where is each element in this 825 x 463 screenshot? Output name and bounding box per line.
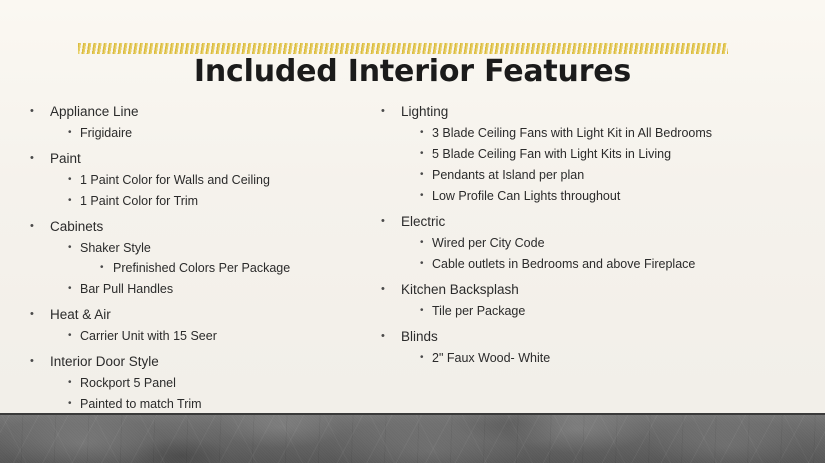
- bullet-marker-icon: •: [30, 354, 34, 369]
- slide-title: Included Interior Features: [0, 54, 825, 89]
- bullet-item-label: Prefinished Colors Per Package: [113, 261, 290, 275]
- bullet-item-label: Interior Door Style: [50, 354, 159, 369]
- bullet-item-level1: •Electric: [381, 214, 781, 229]
- bullet-marker-icon: •: [420, 304, 424, 318]
- bullet-marker-icon: •: [68, 241, 72, 255]
- bullet-list-level2: •Frigidaire: [30, 126, 382, 140]
- bullet-item-level3: •Prefinished Colors Per Package: [30, 261, 382, 275]
- bullet-item-level1: •Appliance Line: [30, 104, 382, 119]
- bullet-item-label: Tile per Package: [432, 304, 525, 318]
- bullet-list-level1: •Appliance Line•Frigidaire•Paint•1 Paint…: [30, 104, 382, 411]
- bullet-item-level2: •Bar Pull Handles: [30, 282, 382, 296]
- bullet-item-label: Frigidaire: [80, 126, 132, 140]
- bullet-item-label: 2" Faux Wood- White: [432, 351, 550, 365]
- bullet-item-label: 5 Blade Ceiling Fan with Light Kits in L…: [432, 147, 671, 161]
- bullet-list-level1: •Lighting•3 Blade Ceiling Fans with Ligh…: [381, 104, 781, 365]
- bullet-list-level2: •3 Blade Ceiling Fans with Light Kit in …: [381, 126, 781, 203]
- bullet-marker-icon: •: [68, 329, 72, 343]
- bullet-marker-icon: •: [30, 307, 34, 322]
- bullet-marker-icon: •: [68, 194, 72, 208]
- bullet-marker-icon: •: [30, 104, 34, 119]
- bullet-item-label: Cabinets: [50, 219, 103, 234]
- bullet-list-level2: •1 Paint Color for Walls and Ceiling•1 P…: [30, 173, 382, 208]
- bullet-marker-icon: •: [420, 257, 424, 271]
- slide-body: •Appliance Line•Frigidaire•Paint•1 Paint…: [0, 104, 825, 404]
- bullet-list-level2: •Carrier Unit with 15 Seer: [30, 329, 382, 343]
- bullet-column-left: •Appliance Line•Frigidaire•Paint•1 Paint…: [30, 104, 382, 411]
- bullet-item-label: Shaker Style: [80, 241, 151, 255]
- bullet-item-label: Appliance Line: [50, 104, 139, 119]
- bullet-item-label: Wired per City Code: [432, 236, 545, 250]
- bullet-item-level2: •3 Blade Ceiling Fans with Light Kit in …: [381, 126, 781, 140]
- bullet-item-level2: •Shaker Style: [30, 241, 382, 255]
- bullet-item-level1: •Lighting: [381, 104, 781, 119]
- bullet-item-level1: •Heat & Air: [30, 307, 382, 322]
- bullet-marker-icon: •: [68, 126, 72, 140]
- bullet-item-level2: •Painted to match Trim: [30, 397, 382, 411]
- bullet-marker-icon: •: [68, 397, 72, 411]
- bullet-item-level1: •Interior Door Style: [30, 354, 382, 369]
- bullet-item-level2: •2" Faux Wood- White: [381, 351, 781, 365]
- bullet-list-level2: •Tile per Package: [381, 304, 781, 318]
- bullet-marker-icon: •: [100, 261, 104, 275]
- bullet-item-label: Paint: [50, 151, 81, 166]
- bullet-item-label: Bar Pull Handles: [80, 282, 173, 296]
- bullet-item-label: Kitchen Backsplash: [401, 282, 519, 297]
- bullet-marker-icon: •: [68, 282, 72, 296]
- bullet-item-label: Blinds: [401, 329, 438, 344]
- bullet-item-label: Rockport 5 Panel: [80, 376, 176, 390]
- bullet-item-label: 1 Paint Color for Trim: [80, 194, 198, 208]
- bullet-item-label: Painted to match Trim: [80, 397, 202, 411]
- bullet-marker-icon: •: [68, 173, 72, 187]
- stone-grain-layer: [0, 415, 825, 463]
- bullet-item-label: Heat & Air: [50, 307, 111, 322]
- bullet-item-level2: •Tile per Package: [381, 304, 781, 318]
- bullet-item-level2: •Low Profile Can Lights throughout: [381, 189, 781, 203]
- bullet-item-level2: •Pendants at Island per plan: [381, 168, 781, 182]
- bullet-item-level2: •Carrier Unit with 15 Seer: [30, 329, 382, 343]
- bullet-item-level2: •Cable outlets in Bedrooms and above Fir…: [381, 257, 781, 271]
- bullet-marker-icon: •: [420, 236, 424, 250]
- decorative-dashed-rule: [78, 43, 728, 54]
- presentation-slide: Included Interior Features •Appliance Li…: [0, 0, 825, 463]
- bullet-item-label: Lighting: [401, 104, 448, 119]
- bullet-list-level3: •Prefinished Colors Per Package: [30, 261, 382, 275]
- bullet-item-label: 1 Paint Color for Walls and Ceiling: [80, 173, 270, 187]
- bullet-marker-icon: •: [30, 151, 34, 166]
- bullet-item-label: Electric: [401, 214, 445, 229]
- bullet-item-level2: •Rockport 5 Panel: [30, 376, 382, 390]
- bullet-marker-icon: •: [381, 104, 385, 119]
- bullet-item-level2: •5 Blade Ceiling Fan with Light Kits in …: [381, 147, 781, 161]
- bullet-column-right: •Lighting•3 Blade Ceiling Fans with Ligh…: [381, 104, 781, 365]
- bullet-item-level2: •Wired per City Code: [381, 236, 781, 250]
- bullet-list-level2: •Shaker Style•Prefinished Colors Per Pac…: [30, 241, 382, 296]
- bullet-marker-icon: •: [420, 351, 424, 365]
- bullet-marker-icon: •: [30, 219, 34, 234]
- bullet-item-label: 3 Blade Ceiling Fans with Light Kit in A…: [432, 126, 712, 140]
- bullet-item-level2: •1 Paint Color for Walls and Ceiling: [30, 173, 382, 187]
- bullet-item-level1: •Blinds: [381, 329, 781, 344]
- bullet-marker-icon: •: [381, 282, 385, 297]
- bullet-marker-icon: •: [68, 376, 72, 390]
- bullet-list-level2: •Wired per City Code•Cable outlets in Be…: [381, 236, 781, 271]
- bullet-list-level2: •Rockport 5 Panel•Painted to match Trim: [30, 376, 382, 411]
- bullet-marker-icon: •: [420, 126, 424, 140]
- bullet-item-level1: •Paint: [30, 151, 382, 166]
- bullet-item-label: Cable outlets in Bedrooms and above Fire…: [432, 257, 695, 271]
- bullet-item-label: Low Profile Can Lights throughout: [432, 189, 620, 203]
- bullet-marker-icon: •: [420, 168, 424, 182]
- stone-texture-band: [0, 413, 825, 463]
- bullet-item-label: Carrier Unit with 15 Seer: [80, 329, 217, 343]
- bullet-item-level2: •Frigidaire: [30, 126, 382, 140]
- bullet-list-level2: •2" Faux Wood- White: [381, 351, 781, 365]
- bullet-marker-icon: •: [381, 329, 385, 344]
- bullet-item-level1: •Kitchen Backsplash: [381, 282, 781, 297]
- bullet-marker-icon: •: [381, 214, 385, 229]
- bullet-item-label: Pendants at Island per plan: [432, 168, 584, 182]
- bullet-item-level2: •1 Paint Color for Trim: [30, 194, 382, 208]
- bullet-item-level1: •Cabinets: [30, 219, 382, 234]
- bullet-marker-icon: •: [420, 147, 424, 161]
- bullet-marker-icon: •: [420, 189, 424, 203]
